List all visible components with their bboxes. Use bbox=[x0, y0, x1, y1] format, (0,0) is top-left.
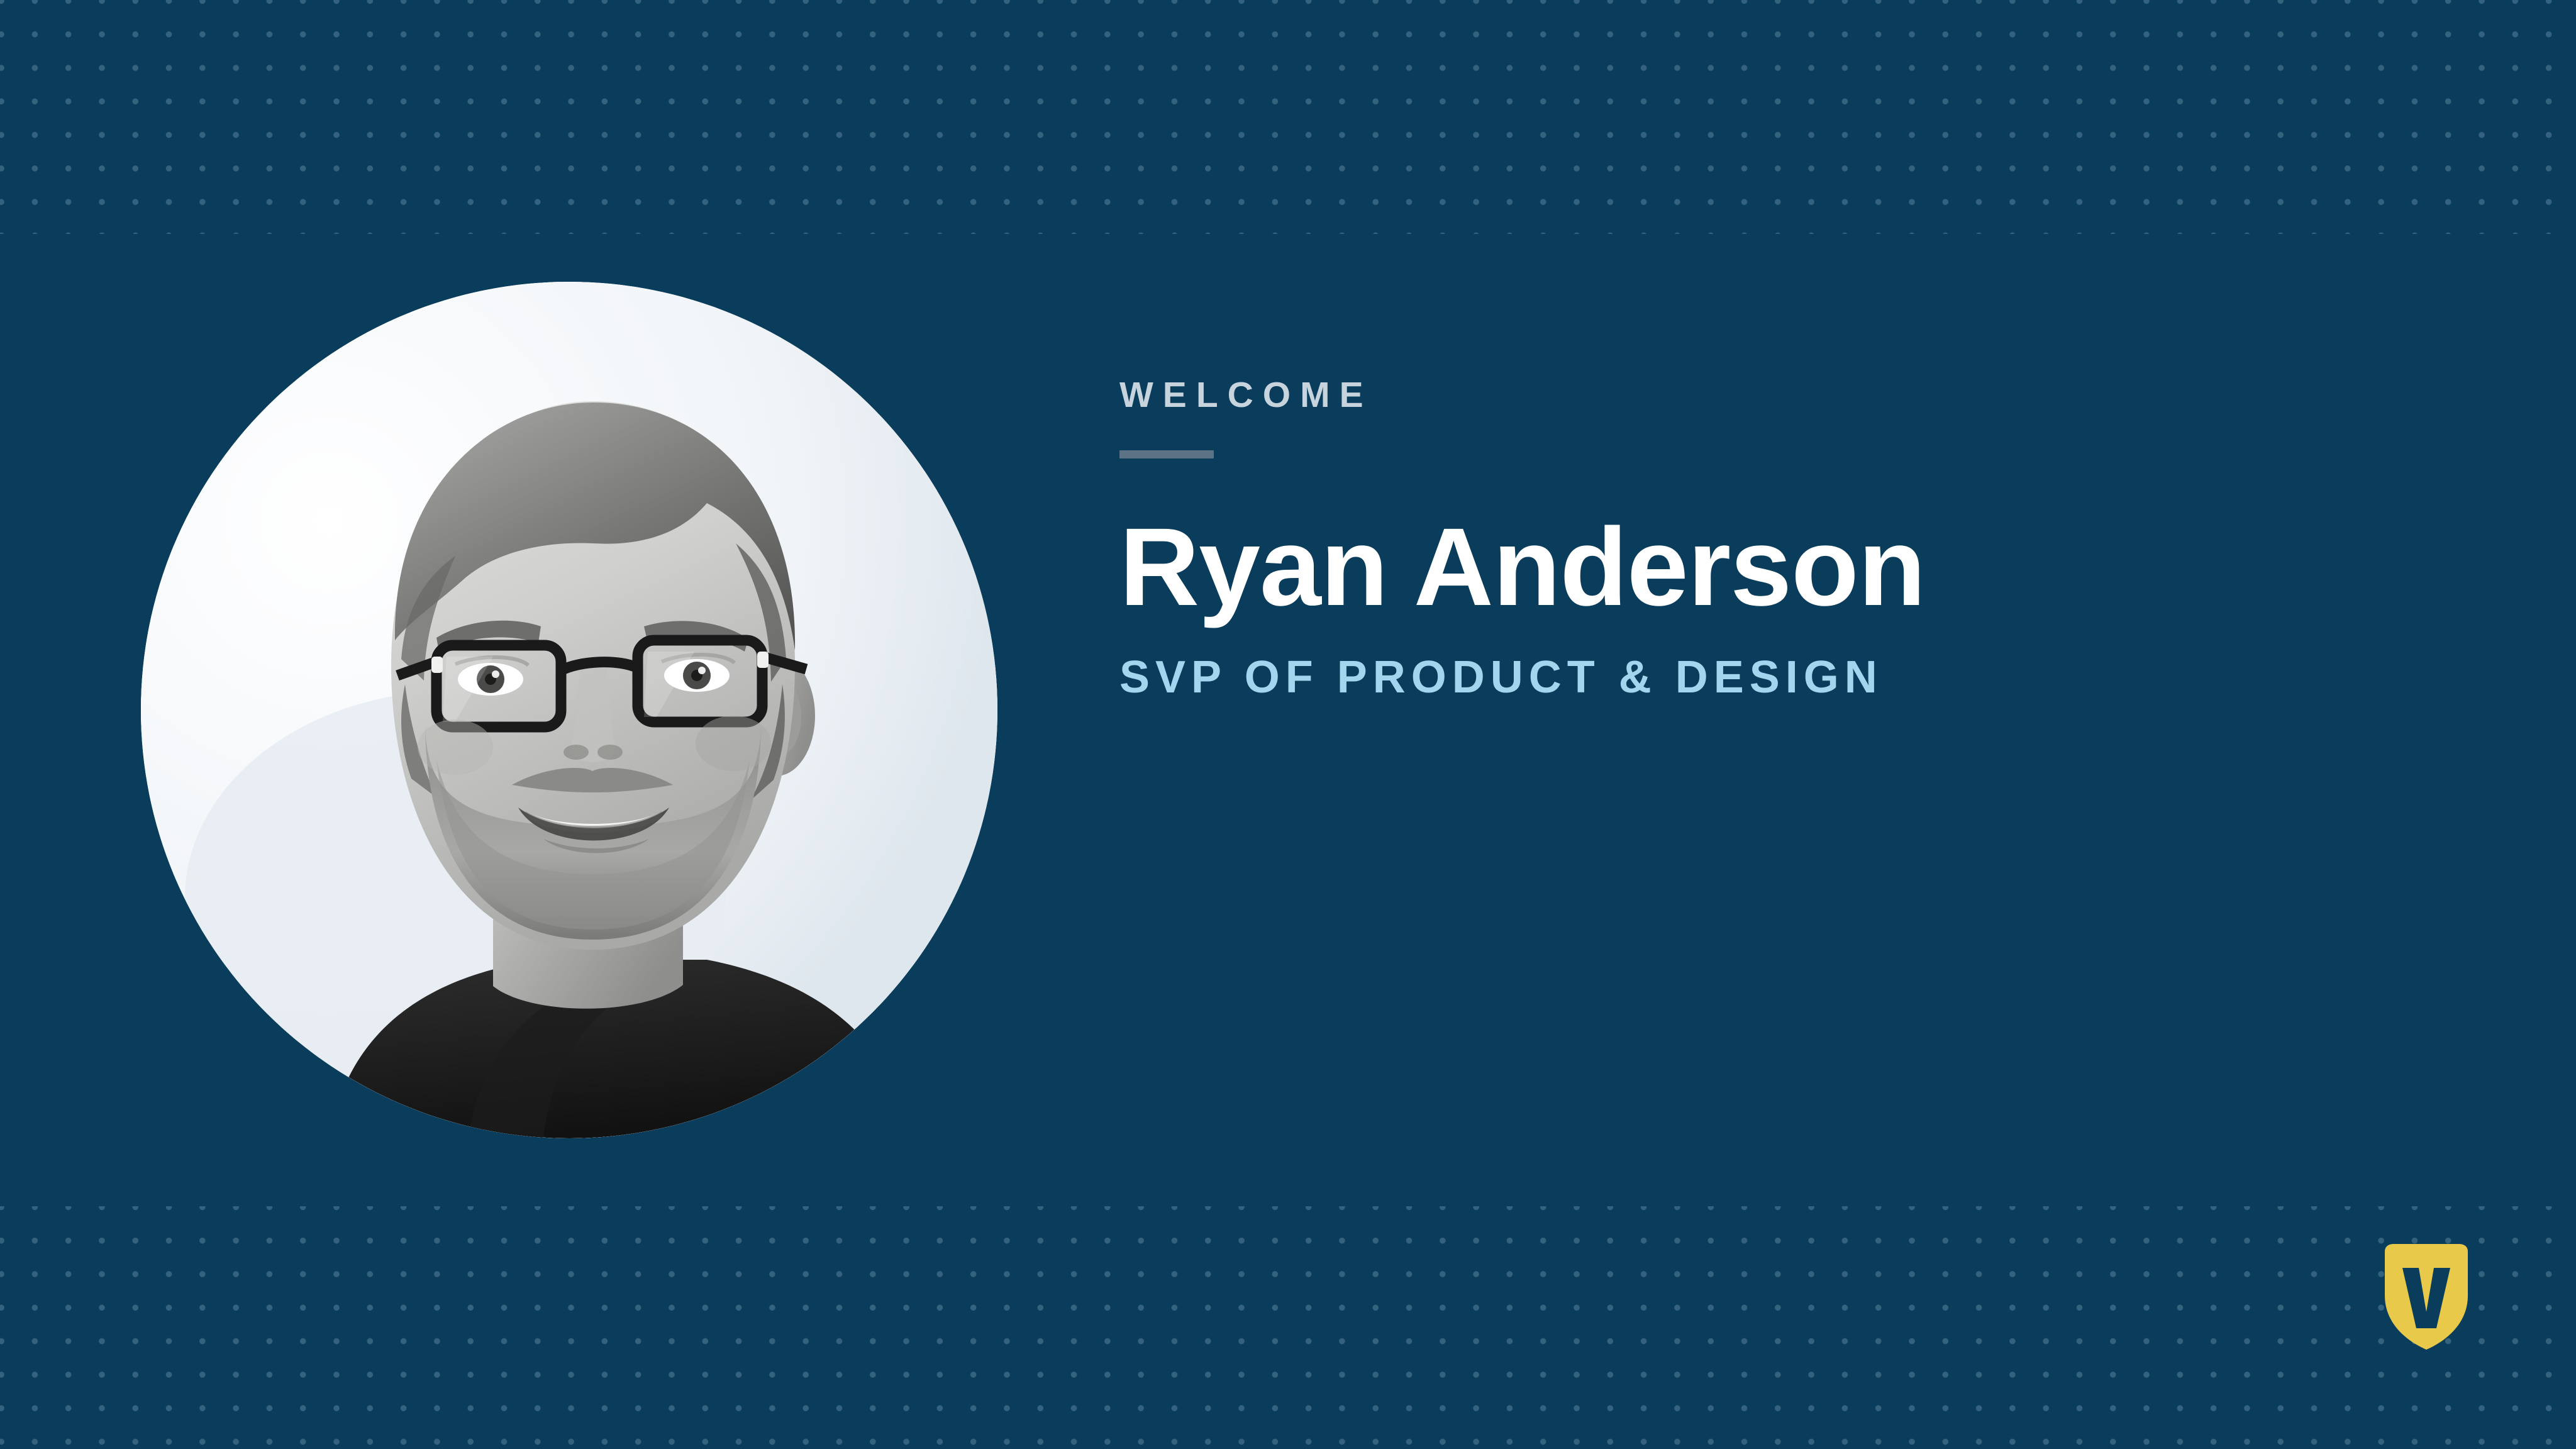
eyebrow-divider bbox=[1119, 450, 1214, 458]
eyebrow-label: WELCOME bbox=[1119, 377, 2440, 413]
dot-grid-pattern-top bbox=[0, 0, 2576, 234]
slide-canvas: WELCOME Ryan Anderson SVP OF PRODUCT & D… bbox=[0, 0, 2576, 1449]
intro-text-block: WELCOME Ryan Anderson SVP OF PRODUCT & D… bbox=[1119, 377, 2440, 706]
portrait-illustration bbox=[141, 282, 997, 1138]
person-job-title: SVP OF PRODUCT & DESIGN bbox=[1119, 648, 2075, 706]
page-title: Ryan Anderson bbox=[1119, 511, 2440, 625]
shield-icon bbox=[2380, 1243, 2473, 1351]
avatar bbox=[141, 282, 997, 1138]
dot-grid-pattern-bottom bbox=[0, 1206, 2576, 1449]
shield-icon-graphic bbox=[2380, 1243, 2473, 1351]
